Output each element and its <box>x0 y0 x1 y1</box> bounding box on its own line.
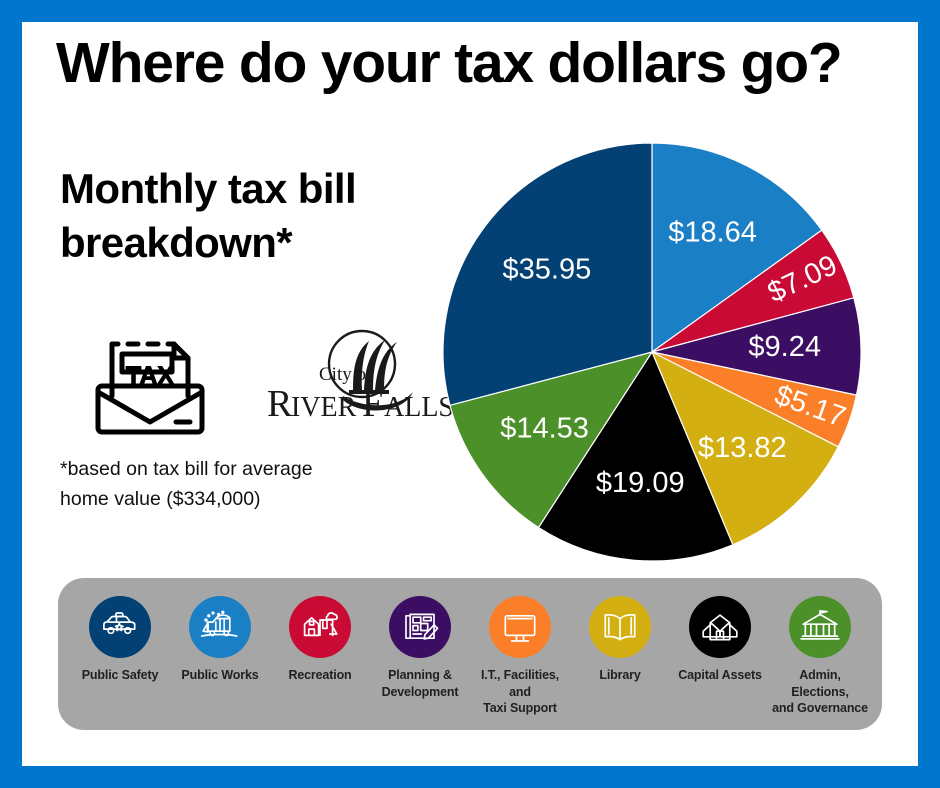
legend-color-swatch <box>289 596 351 658</box>
legend-label-line-2: Taxi Support <box>470 700 570 717</box>
legend-color-swatch <box>489 596 551 658</box>
tax-breakdown-pie-chart: $18.64$7.09$9.24$5.17$13.82$19.09$14.53$… <box>422 122 882 582</box>
legend-label-line-1: Recreation <box>288 667 351 684</box>
legend-label: I.T., Facilities, andTaxi Support <box>470 667 570 717</box>
subtitle: Monthly tax bill breakdown* <box>60 162 410 270</box>
buildings-icon <box>699 606 741 648</box>
legend-label: Library <box>599 667 640 684</box>
legend-item[interactable]: I.T., Facilities, andTaxi Support <box>470 596 570 717</box>
logo-river-rest: IVER <box>291 392 357 423</box>
pie-slice-label: $19.09 <box>596 467 685 499</box>
logo-falls-f: F <box>362 383 383 425</box>
legend-label-line-1: Admin, Elections, <box>770 667 870 700</box>
legend-item[interactable]: Planning &Development <box>370 596 470 700</box>
logo-city-of-text: City of <box>319 364 373 385</box>
blueprint-icon <box>399 606 441 648</box>
legend-color-swatch <box>789 596 851 658</box>
legend-color-swatch <box>689 596 751 658</box>
legend-label: Admin, Elections,and Governance <box>770 667 870 717</box>
legend-label: Public Safety <box>82 667 159 684</box>
legend-color-swatch <box>589 596 651 658</box>
footnote-line-2: home value ($334,000) <box>60 484 390 514</box>
pie-slice-label: $13.82 <box>698 432 787 464</box>
department-legend: Public SafetyPublic WorksRecreationPlann… <box>58 578 882 730</box>
tax-envelope-icon: TAX <box>90 324 210 436</box>
legend-label-line-1: Library <box>599 667 640 684</box>
open-book-icon <box>599 606 641 648</box>
legend-label-line-1: Planning & <box>382 667 459 684</box>
police-car-icon <box>99 606 141 648</box>
legend-label-line-1: Public Works <box>181 667 258 684</box>
brand-row: TAX City of R IVER F ALLS <box>62 322 422 442</box>
legend-item[interactable]: Public Works <box>170 596 270 684</box>
pie-slice-label: $9.24 <box>748 331 821 363</box>
logo-river-r: R <box>267 383 293 425</box>
legend-label-line-2: and Governance <box>770 700 870 717</box>
tax-icon-label: TAX <box>126 362 174 390</box>
legend-label-line-2: Development <box>382 684 459 701</box>
subtitle-line-2: breakdown* <box>60 216 410 270</box>
legend-label: Capital Assets <box>678 667 762 684</box>
pie-slice-label: $14.53 <box>500 413 589 445</box>
legend-item[interactable]: Public Safety <box>70 596 170 684</box>
footnote-line-1: *based on tax bill for average <box>60 454 390 484</box>
snowplow-truck-icon <box>199 606 241 648</box>
legend-label: Public Works <box>181 667 258 684</box>
legend-color-swatch <box>189 596 251 658</box>
legend-item[interactable]: Recreation <box>270 596 370 684</box>
page-title: Where do your tax dollars go? <box>56 34 896 94</box>
legend-label: Recreation <box>288 667 351 684</box>
legend-label-line-1: Public Safety <box>82 667 159 684</box>
pie-slice-label: $18.64 <box>668 217 757 249</box>
legend-label-line-1: Capital Assets <box>678 667 762 684</box>
legend-label-line-1: I.T., Facilities, and <box>470 667 570 700</box>
legend-label: Planning &Development <box>382 667 459 700</box>
pie-slice-label: $35.95 <box>503 254 592 286</box>
legend-color-swatch <box>89 596 151 658</box>
legend-item[interactable]: Admin, Elections,and Governance <box>770 596 870 717</box>
legend-color-swatch <box>389 596 451 658</box>
legend-item[interactable]: Capital Assets <box>670 596 770 684</box>
monitor-icon <box>499 606 541 648</box>
courthouse-icon <box>799 606 841 648</box>
playground-icon <box>299 606 341 648</box>
footnote: *based on tax bill for average home valu… <box>60 454 390 514</box>
subtitle-line-1: Monthly tax bill <box>60 162 410 216</box>
legend-item[interactable]: Library <box>570 596 670 684</box>
poster-frame: Where do your tax dollars go? Monthly ta… <box>22 22 918 766</box>
